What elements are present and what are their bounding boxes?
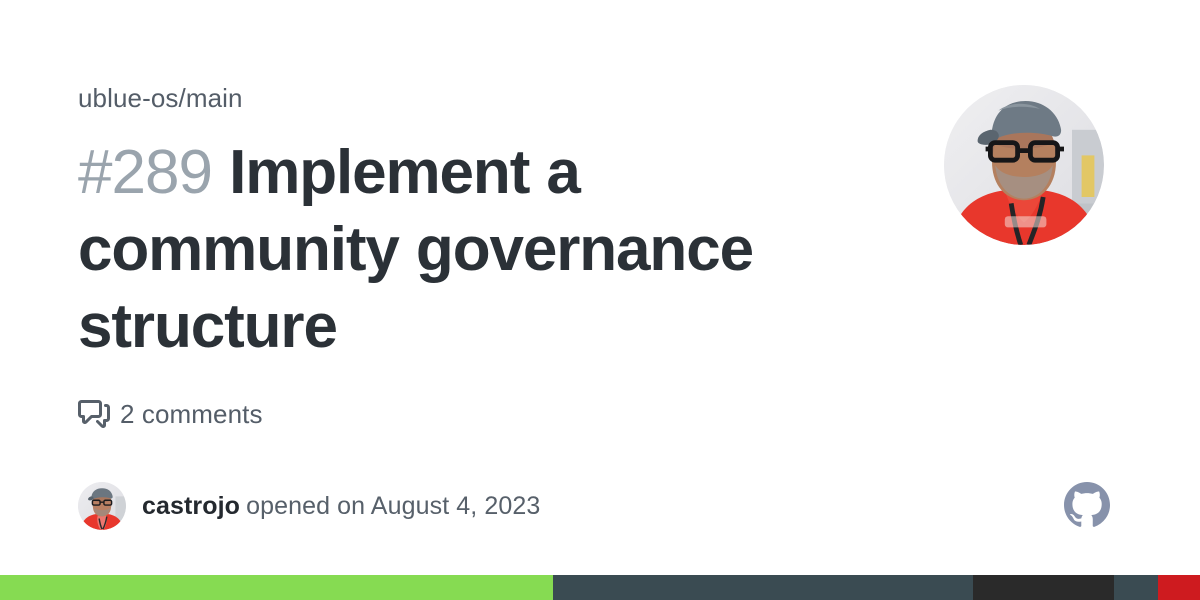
- issue-title-block: #289 Implement a community governance st…: [78, 134, 878, 365]
- bar-segment-slate-2: [1114, 575, 1158, 600]
- comments-row: 2 comments: [78, 398, 263, 430]
- issue-title-text: [212, 138, 229, 207]
- avatar: [78, 482, 126, 530]
- author-avatar-large: [944, 85, 1104, 245]
- bar-segment-red: [1158, 575, 1200, 600]
- author-row: castrojoopened on August 4, 2023: [78, 482, 540, 530]
- bar-segment-slate: [553, 575, 973, 600]
- bar-segment-green: [0, 575, 553, 600]
- bottom-color-bar: [0, 575, 1200, 600]
- issue-social-card: ublue-os/main #289 Implement a community…: [0, 0, 1200, 600]
- github-octocat-icon: [1064, 482, 1110, 528]
- comments-count-label: 2 comments: [120, 398, 263, 430]
- bar-segment-dark: [973, 575, 1114, 600]
- comment-discussion-icon: [78, 398, 110, 430]
- author-text: castrojoopened on August 4, 2023: [142, 491, 540, 521]
- issue-number: #289: [78, 138, 212, 207]
- author-username: castrojo: [142, 492, 240, 520]
- page-title: #289 Implement a community governance st…: [78, 134, 878, 365]
- author-action: opened on August 4, 2023: [246, 492, 540, 520]
- repository-name: ublue-os/main: [78, 82, 243, 114]
